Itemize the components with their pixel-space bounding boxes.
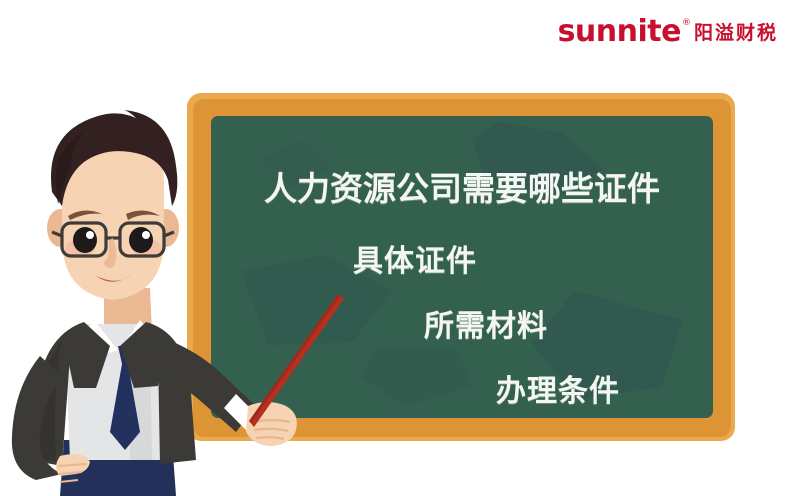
eye-highlight-left: [86, 231, 94, 239]
blackboard-item-1: 具体证件: [353, 236, 477, 280]
brand-chinese-name: 阳溢财税: [694, 24, 778, 43]
teacher-illustration: [0, 88, 350, 496]
brand-wordmark: sunnite: [558, 17, 681, 47]
brand-logo: sunnite ® 阳溢财税: [558, 16, 782, 46]
eye-right: [129, 227, 153, 253]
eye-left: [73, 227, 97, 253]
pointer-stick-shade: [249, 294, 340, 423]
blackboard-item-2: 所需材料: [424, 301, 548, 345]
blackboard-item-3: 办理条件: [496, 366, 620, 410]
poster-canvas: sunnite ® 阳溢财税 人力资源公司需要哪些证件 具体证件 所需材料 办理…: [0, 0, 800, 496]
eye-highlight-right: [142, 231, 150, 239]
registered-trademark-icon: ®: [682, 19, 691, 28]
pointer-stick: [249, 294, 344, 427]
